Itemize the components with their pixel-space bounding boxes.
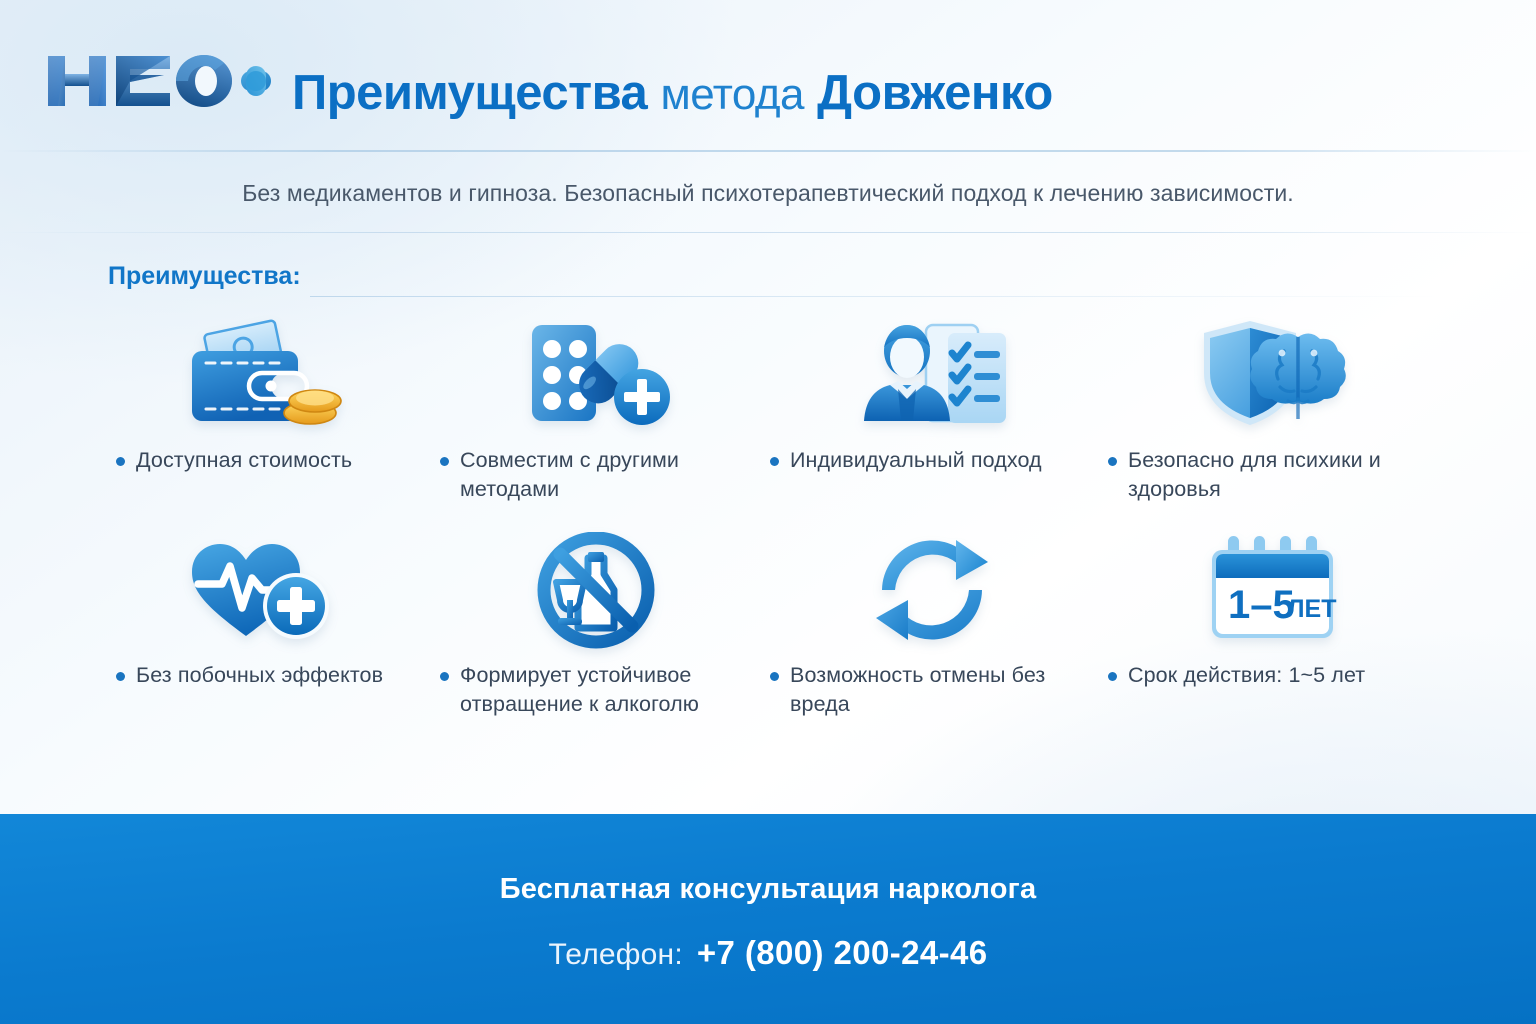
benefit-caption: Возможность отмены без вреда xyxy=(768,661,1104,719)
shield-brain-icon xyxy=(1104,312,1440,440)
section-label: Преимущества: xyxy=(108,262,301,291)
bullet-icon xyxy=(116,457,125,466)
benefit-caption: Формирует устойчивое отвращение к алкого… xyxy=(432,661,768,719)
subtitle-divider xyxy=(0,232,1536,233)
benefit-item-8: 1–5 ЛЕТ Срок действия: 1~5 лет xyxy=(1104,527,1440,742)
bullet-icon xyxy=(770,457,779,466)
title-part-3: Довженко xyxy=(817,66,1053,120)
benefit-item-1: Доступная стоимость xyxy=(96,312,432,527)
svg-text:ЛЕТ: ЛЕТ xyxy=(1287,595,1337,623)
section-divider xyxy=(310,296,1440,297)
benefit-label: Срок действия: 1~5 лет xyxy=(1128,661,1365,690)
footer-heading: Бесплатная консультация нарколога xyxy=(500,873,1037,906)
header: Преимущества метода Довженко xyxy=(0,0,1536,150)
phone-label: Телефон: xyxy=(548,938,682,972)
benefit-item-7: Возможность отмены без вреда xyxy=(768,527,1104,742)
benefit-label: Формирует устойчивое отвращение к алкого… xyxy=(460,661,752,719)
benefit-caption: Без побочных эффектов xyxy=(96,661,432,690)
calendar-icon: 1–5 ЛЕТ xyxy=(1104,527,1440,655)
heart-pulse-plus-icon xyxy=(96,527,432,655)
neo-plus-logo xyxy=(38,48,273,114)
bullet-icon xyxy=(116,672,125,681)
benefit-caption: Безопасно для психики и здоровья xyxy=(1104,446,1440,504)
header-divider xyxy=(0,150,1536,152)
infographic-poster: Преимущества метода Довженко Без медикам… xyxy=(0,0,1536,1024)
benefit-item-4: Безопасно для психики и здоровья xyxy=(1104,312,1440,527)
bullet-icon xyxy=(770,672,779,681)
no-alcohol-icon xyxy=(432,527,768,655)
benefit-item-3: Индивидуальный подход xyxy=(768,312,1104,527)
reversal-arrows-icon xyxy=(768,527,1104,655)
bullet-icon xyxy=(440,672,449,681)
doctor-checklist-icon xyxy=(768,312,1104,440)
benefit-caption: Индивидуальный подход xyxy=(768,446,1104,475)
footer-cta: Бесплатная консультация нарколога Телефо… xyxy=(0,814,1536,1024)
benefit-label: Совместим с другими методами xyxy=(460,446,752,504)
pills-plus-icon xyxy=(432,312,768,440)
benefit-caption: Доступная стоимость xyxy=(96,446,432,475)
benefit-label: Возможность отмены без вреда xyxy=(790,661,1088,719)
page-title: Преимущества метода Довженко xyxy=(292,56,1053,132)
benefit-label: Доступная стоимость xyxy=(136,446,352,475)
wallet-coins-icon xyxy=(96,312,432,440)
benefits-grid: Доступная стоимость xyxy=(96,312,1440,742)
benefit-item-2: Совместим с другими методами xyxy=(432,312,768,527)
benefit-caption: Срок действия: 1~5 лет xyxy=(1104,661,1440,690)
bullet-icon xyxy=(1108,457,1117,466)
footer-phone: Телефон: +7 (800) 200-24-46 xyxy=(548,934,987,972)
phone-number[interactable]: +7 (800) 200-24-46 xyxy=(697,934,988,972)
benefit-item-6: Формирует устойчивое отвращение к алкого… xyxy=(432,527,768,742)
calendar-range: 1–5 xyxy=(1228,583,1295,627)
bullet-icon xyxy=(1108,672,1117,681)
bullet-icon xyxy=(440,457,449,466)
subtitle: Без медикаментов и гипноза. Безопасный п… xyxy=(0,180,1536,207)
benefit-caption: Совместим с другими методами xyxy=(432,446,768,504)
benefit-label: Индивидуальный подход xyxy=(790,446,1042,475)
benefit-item-5: Без побочных эффектов xyxy=(96,527,432,742)
title-part-1: Преимущества xyxy=(292,66,647,120)
benefit-label: Безопасно для психики и здоровья xyxy=(1128,446,1424,504)
benefit-label: Без побочных эффектов xyxy=(136,661,383,690)
title-part-2: метода xyxy=(660,70,804,119)
